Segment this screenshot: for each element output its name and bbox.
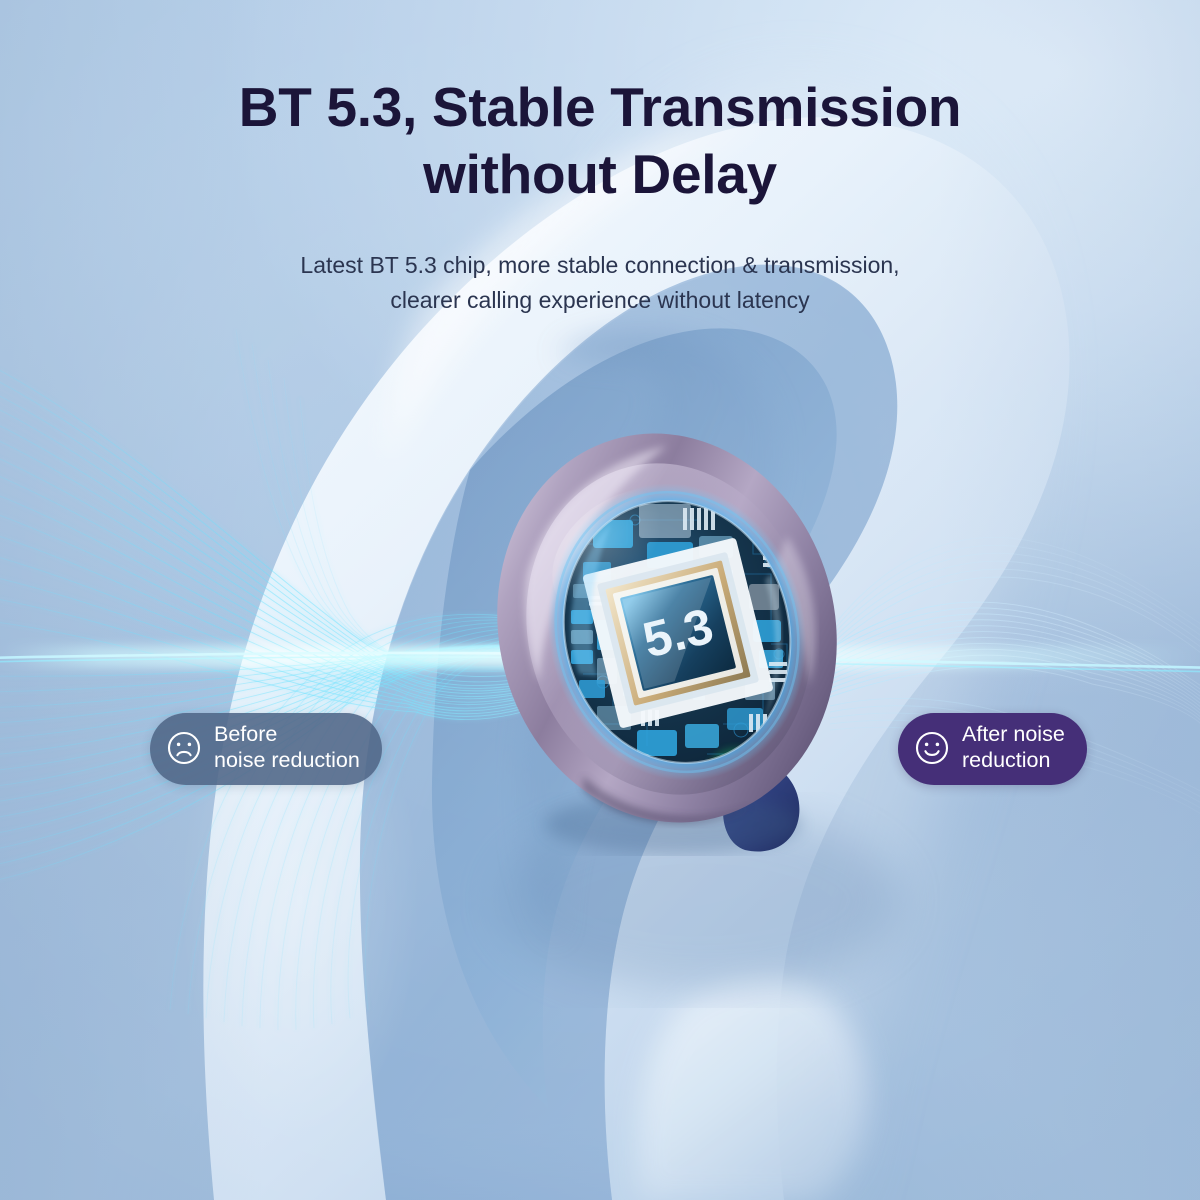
subtitle-line-2: clearer calling experience without laten… — [0, 283, 1200, 318]
subtitle-line-1: Latest BT 5.3 chip, more stable connecti… — [300, 252, 899, 278]
sad-face-icon — [166, 730, 202, 766]
headline-line-2: without Delay — [0, 141, 1200, 208]
badge-before-line-2: noise reduction — [214, 748, 360, 774]
headline-line-1: BT 5.3, Stable Transmission — [239, 76, 961, 138]
badge-before-text: Before noise reduction — [214, 722, 360, 774]
wireless-earbud: 5.3 — [487, 424, 853, 856]
badge-after-line-1: After noise — [962, 722, 1065, 746]
product-feature-banner: 5.3 BT 5.3, Stable Transmission withou — [0, 0, 1200, 1200]
badge-before-noise-reduction: Before noise reduction — [150, 713, 382, 785]
page-subtitle: Latest BT 5.3 chip, more stable connecti… — [0, 248, 1200, 318]
badge-after-text: After noise reduction — [962, 722, 1065, 774]
badge-before-line-1: Before — [214, 722, 277, 746]
page-title: BT 5.3, Stable Transmission without Dela… — [0, 74, 1200, 207]
badge-after-noise-reduction: After noise reduction — [898, 713, 1087, 785]
badge-after-line-2: reduction — [962, 748, 1065, 774]
smiley-face-icon — [914, 730, 950, 766]
